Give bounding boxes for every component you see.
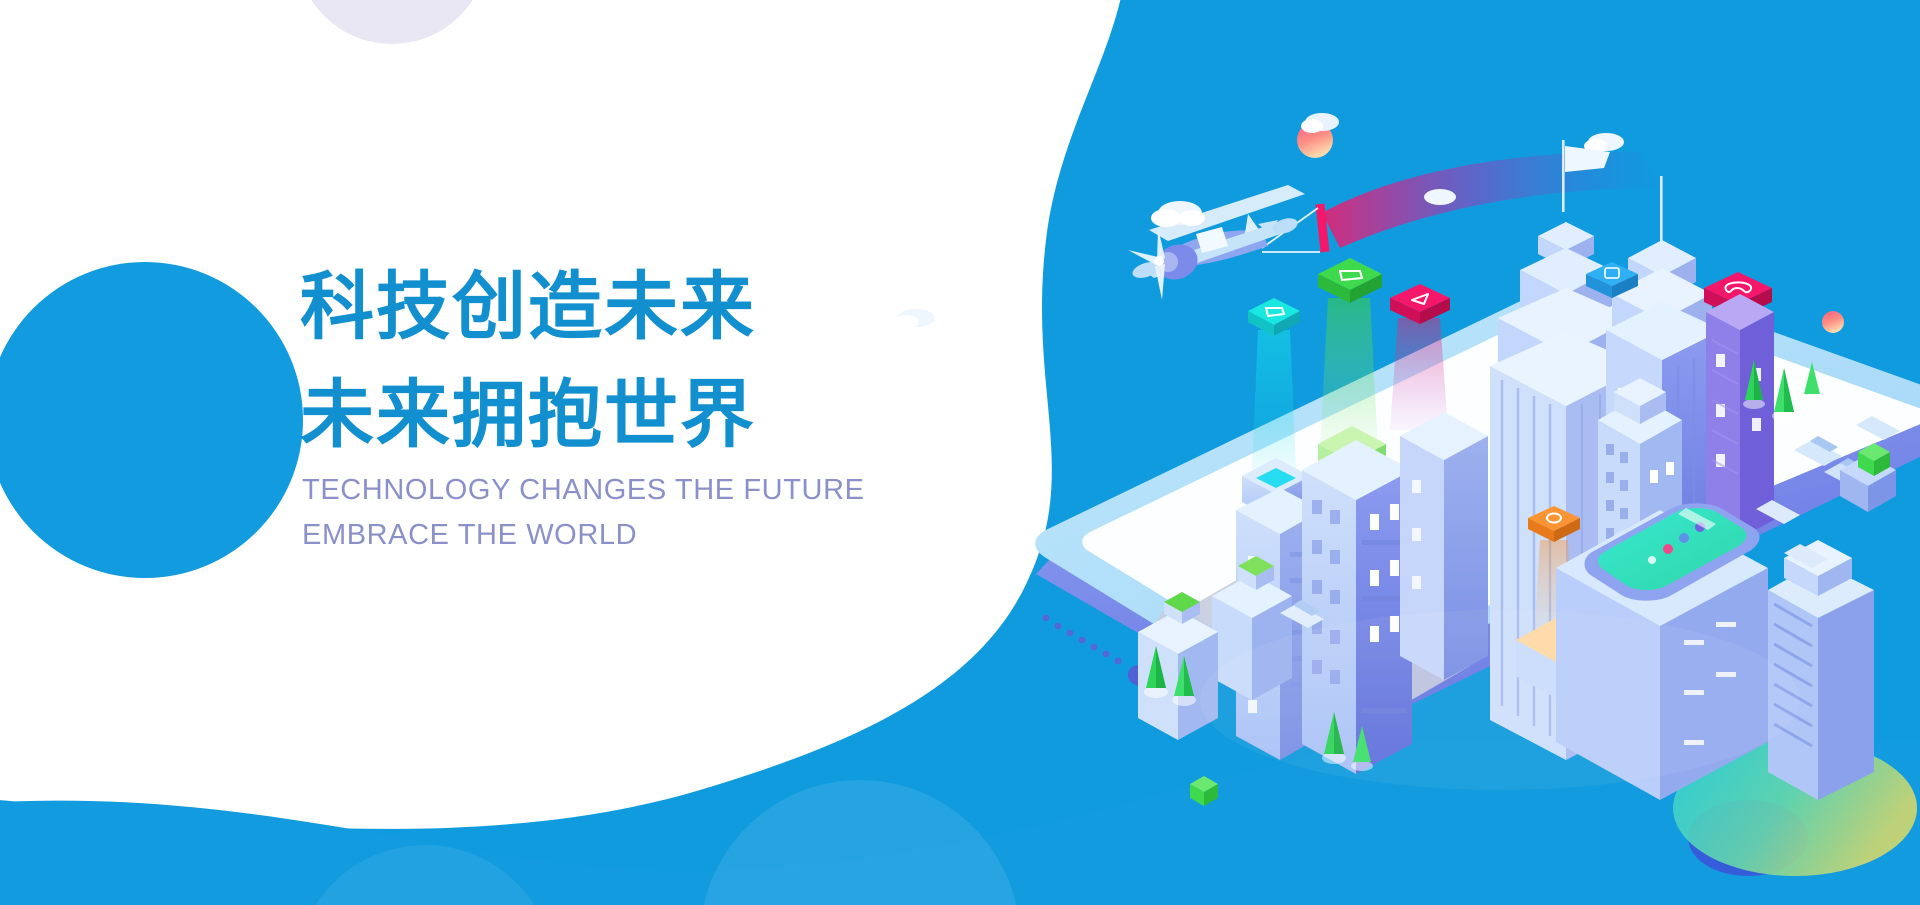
light-beam-pink	[1390, 318, 1448, 430]
cloud-mid-right	[1151, 201, 1205, 227]
rooftop-phone-dot-3	[1663, 544, 1673, 554]
cloud-near-flag	[1424, 189, 1456, 205]
banner-root: 科技创造未来 未来拥抱世界 TECHNOLOGY CHANGES THE FUT…	[0, 0, 1920, 905]
rooftop-phone-dot-4	[1648, 556, 1656, 564]
app-icon-green[interactable]	[1318, 258, 1382, 303]
isometric-city-illustration	[0, 0, 1920, 905]
app-icon-cyan[interactable]	[1248, 298, 1300, 336]
phone-speaker-holes	[1043, 615, 1122, 665]
rooftop-phone-dot-2	[1679, 533, 1689, 543]
cloud-top-right	[1301, 113, 1339, 133]
building-purple-tower	[1706, 294, 1774, 538]
airplane	[1128, 185, 1320, 300]
light-beam-cyan	[1252, 330, 1296, 470]
green-block-bottom	[1190, 776, 1218, 806]
city-glow	[1200, 610, 1800, 790]
light-beam-green	[1320, 298, 1378, 450]
banner-streamer	[1322, 152, 1660, 248]
cloud-left	[893, 309, 935, 329]
